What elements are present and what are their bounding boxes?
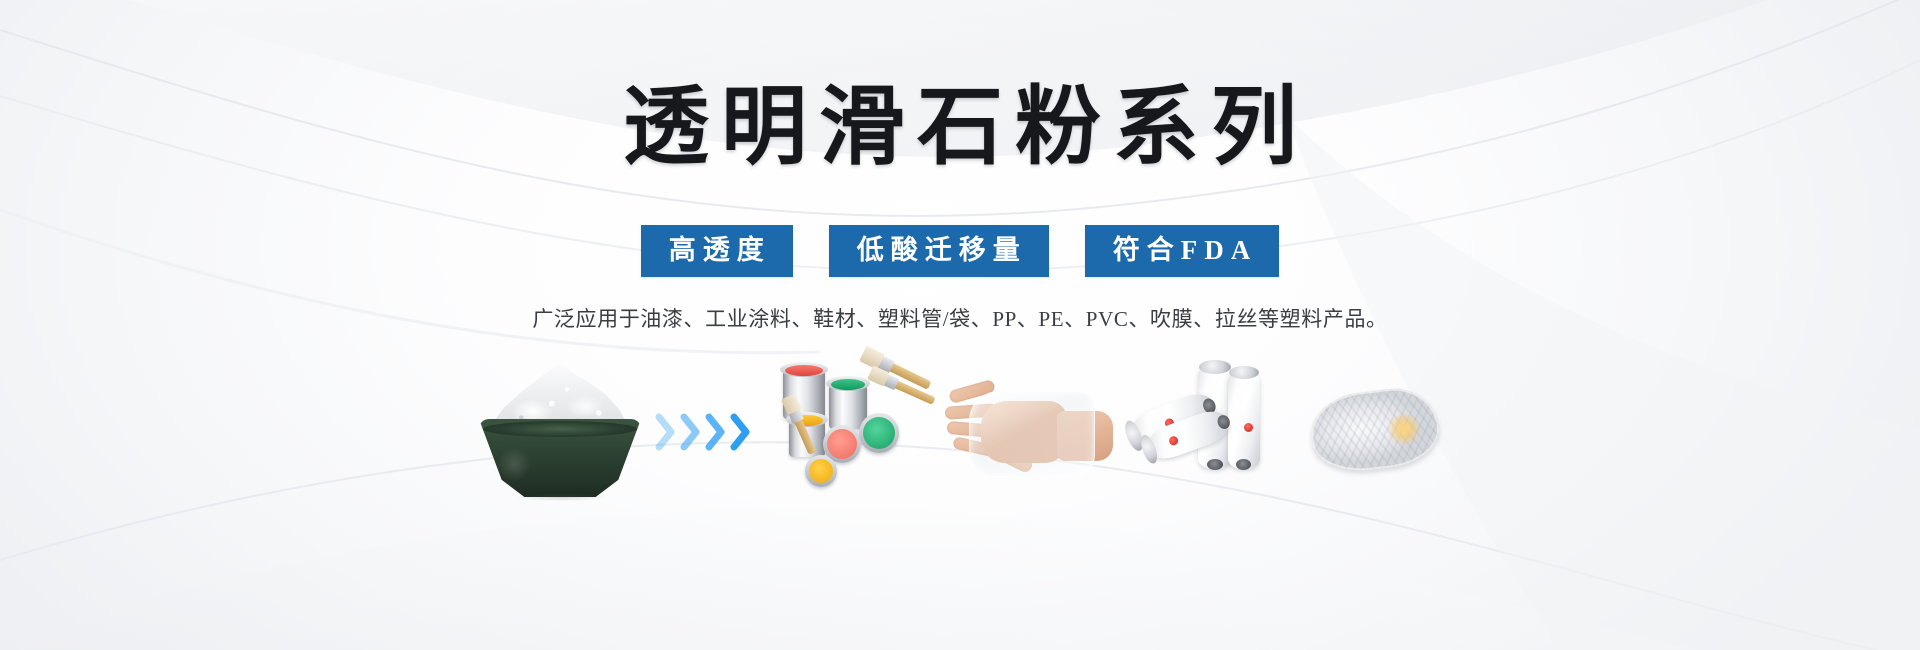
feature-badge-high-transparency[interactable]: 高透度 (641, 225, 793, 277)
film-roll (1228, 371, 1260, 469)
gallery-item-talc-powder-bowl (465, 357, 655, 507)
feature-badge-low-acid-migration[interactable]: 低酸迁移量 (829, 225, 1049, 277)
chevron-right-icon (705, 412, 727, 452)
transparent-glove-film (969, 391, 1095, 477)
bowl-shadow (497, 491, 625, 503)
feature-badge-fda-compliant[interactable]: 符合FDA (1085, 225, 1280, 277)
plastic-film-rolls-icon (1120, 357, 1295, 507)
arrow-chevrons-group (655, 402, 775, 462)
paint-cans-icon (775, 357, 945, 507)
shoe-sole-body (1307, 383, 1444, 476)
feature-badge-list: 高透度 低酸迁移量 符合FDA (0, 225, 1920, 277)
gallery-item-shoe-sole (1295, 357, 1455, 507)
shoe-sole-icon (1295, 357, 1455, 507)
gallery-item-plastic-glove-hand (945, 357, 1120, 507)
product-image-gallery (0, 352, 1920, 512)
chevron-right-icon (680, 412, 702, 452)
page-title: 透明滑石粉系列 (0, 84, 1920, 170)
product-banner: 透明滑石粉系列 高透度 低酸迁移量 符合FDA 广泛应用于油漆、工业涂料、鞋材、… (0, 0, 1920, 650)
gallery-item-paint-cans (775, 357, 945, 507)
application-description: 广泛应用于油漆、工业涂料、鞋材、塑料管/袋、PP、PE、PVC、吹膜、拉丝等塑料… (0, 303, 1920, 333)
paint-disc-yellow (805, 455, 837, 487)
gallery-item-arrow-chevrons (655, 357, 775, 507)
green-bowl (479, 419, 641, 497)
chevron-right-icon (655, 412, 677, 452)
gallery-item-plastic-film-rolls (1120, 357, 1295, 507)
talc-powder-bowl-icon (465, 357, 655, 507)
plastic-glove-hand-icon (945, 357, 1120, 507)
chevron-right-icon (730, 412, 752, 452)
paint-disc-green (859, 413, 899, 453)
shoe-sole-highlight (1387, 413, 1421, 445)
